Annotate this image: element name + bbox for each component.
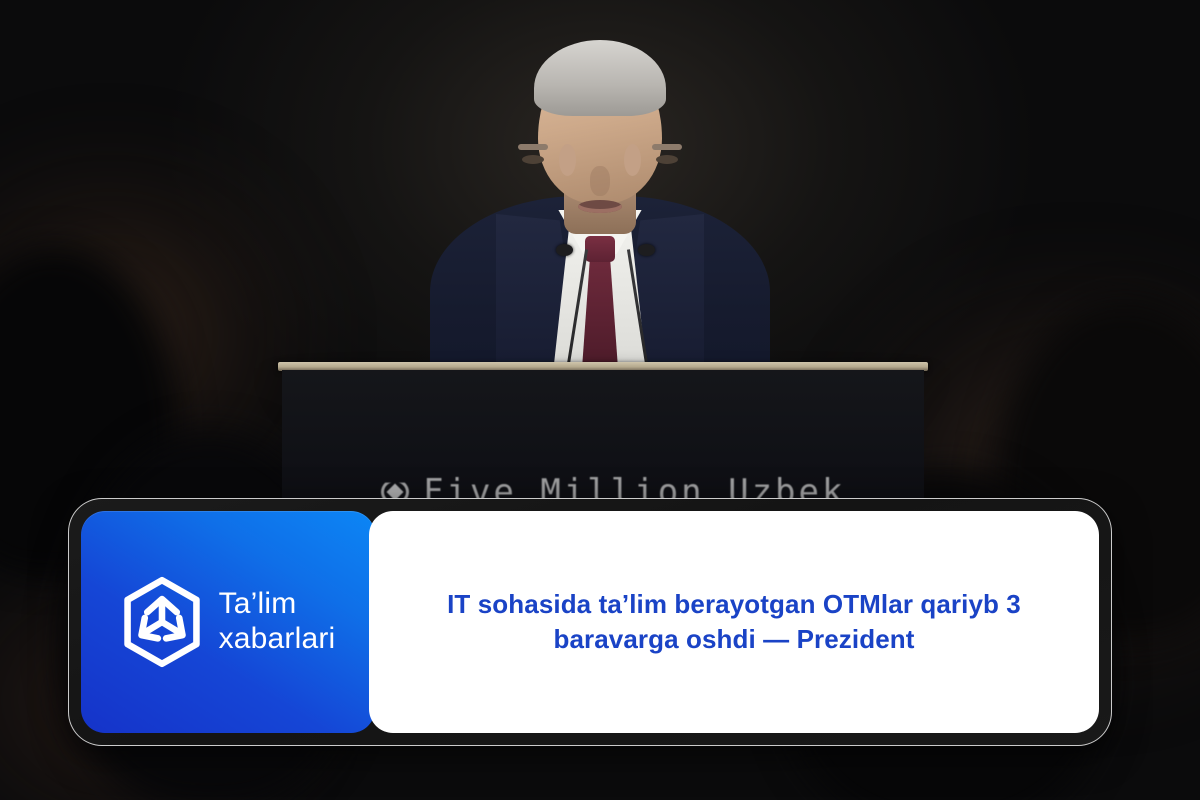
speaker-eye-right (522, 155, 544, 164)
speaker-figure (430, 18, 770, 388)
speaker-tie-knot (585, 236, 615, 262)
headline-text: IT sohasida ta’lim berayotgan OTMlar qar… (415, 587, 1053, 658)
brand-logo-panel[interactable]: Ta’lim xabarlari (81, 511, 375, 733)
speaker-ear-left (624, 144, 641, 176)
speaker-ear-right (559, 144, 576, 176)
news-lower-third-card: Ta’lim xabarlari IT sohasida ta’lim bera… (68, 498, 1112, 746)
speaker-brow-left (652, 144, 682, 150)
headline-panel: IT sohasida ta’lim berayotgan OTMlar qar… (369, 511, 1099, 733)
speaker-brow-right (518, 144, 548, 150)
microphone-right-capsule (638, 244, 655, 256)
speaker-eye-left (656, 155, 678, 164)
speaker-mouth (578, 200, 622, 213)
screenshot-stage: Five Million Uzbek T (0, 0, 1200, 800)
speaker-hair (534, 40, 666, 116)
speaker-nose (590, 166, 610, 196)
microphone-left-capsule (556, 244, 573, 256)
brand-name: Ta’lim xabarlari (219, 587, 336, 657)
hex-cube-arrows-icon (121, 576, 203, 668)
